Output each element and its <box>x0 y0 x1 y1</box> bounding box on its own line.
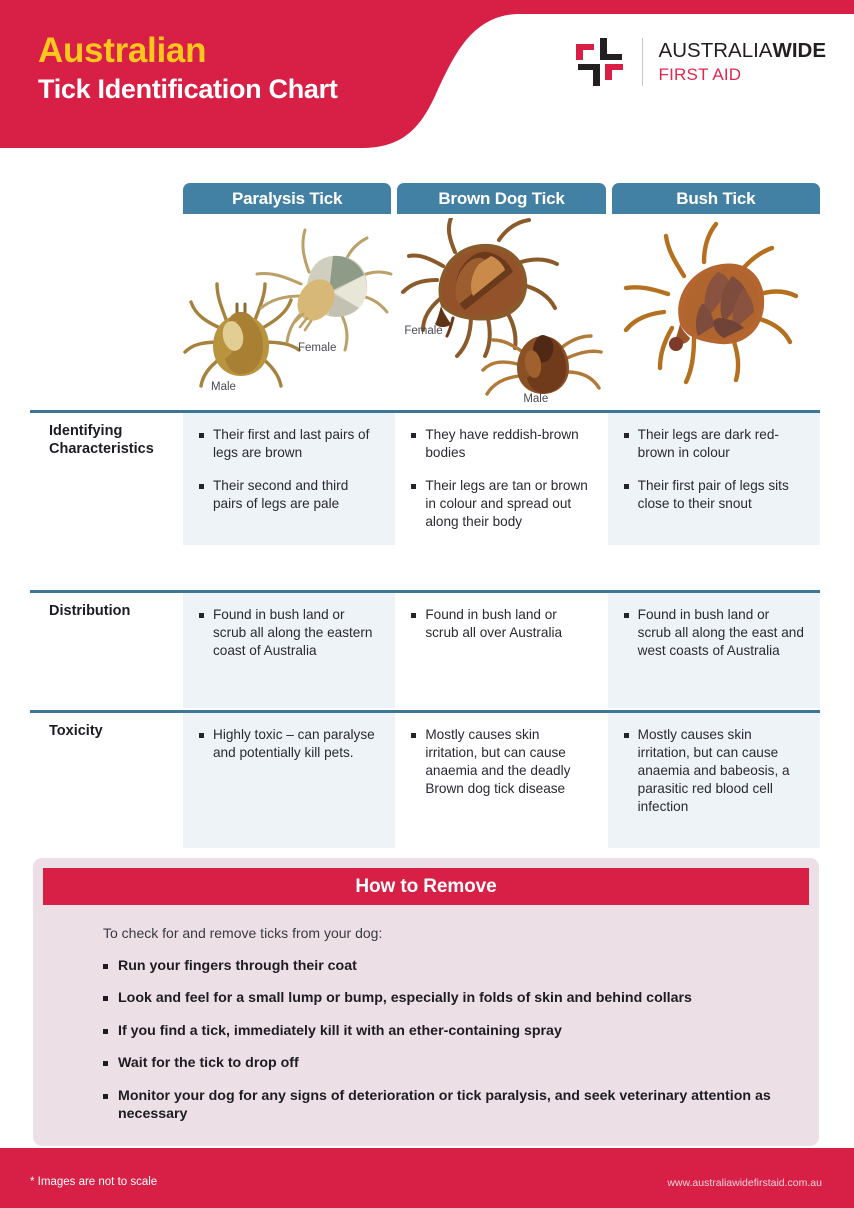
list-item: Found in bush land or scrub all along th… <box>199 606 379 660</box>
bullet-list: Mostly causes skin irritation, but can c… <box>411 726 591 798</box>
brand-name-bold: WIDE <box>772 39 826 62</box>
label-paralysis-female: Female <box>298 342 336 354</box>
cell-bush-distribution: Found in bush land or scrub all along th… <box>608 593 820 708</box>
brand-logo: AUSTRALIAWIDE FIRST AID <box>574 36 826 88</box>
list-item: They have reddish-brown bodies <box>411 426 591 462</box>
how-to-remove-title: How to Remove <box>43 868 809 905</box>
footer-disclaimer: * Images are not to scale <box>30 1176 157 1188</box>
bush-tick-images <box>608 218 820 410</box>
cell-bush-characteristics: Their legs are dark red-brown in colour … <box>608 413 820 545</box>
paralysis-tick-images: Male Female <box>183 218 395 410</box>
cell-brown-dog-toxicity: Mostly causes skin irritation, but can c… <box>395 713 607 848</box>
page-title-primary: Australian <box>38 32 338 71</box>
footer-website-url[interactable]: www.australiawidefirstaid.com.au <box>667 1177 822 1189</box>
bullet-list: Found in bush land or scrub all over Aus… <box>411 606 591 642</box>
how-to-remove-steps: Run your fingers through their coat Look… <box>103 957 819 1124</box>
how-to-remove-intro: To check for and remove ticks from your … <box>103 925 819 941</box>
list-item: Mostly causes skin irritation, but can c… <box>411 726 591 798</box>
page-footer: * Images are not to scale www.australiaw… <box>0 1148 854 1208</box>
brand-divider <box>642 38 643 86</box>
row-heading: Toxicity <box>30 713 183 848</box>
bullet-list: Found in bush land or scrub all along th… <box>624 606 804 660</box>
cell-paralysis-characteristics: Their first and last pairs of legs are b… <box>183 413 395 545</box>
header-title-group: Australian Tick Identification Chart <box>38 32 338 104</box>
tick-illustration-band: Male Female <box>183 218 820 410</box>
bullet-list: Their legs are dark red-brown in colour … <box>624 426 804 513</box>
page-header: Australian Tick Identification Chart <box>0 0 854 152</box>
brand-tagline: FIRST AID <box>659 66 826 83</box>
page-title-secondary: Tick Identification Chart <box>38 75 338 105</box>
label-brown-dog-female: Female <box>404 325 442 337</box>
list-item: Monitor your dog for any signs of deteri… <box>103 1087 779 1124</box>
brown-dog-tick-illustration <box>395 218 607 410</box>
table-row-toxicity: Toxicity Highly toxic – can paralyse and… <box>30 710 820 848</box>
cell-brown-dog-characteristics: They have reddish-brown bodies Their leg… <box>395 413 607 545</box>
tab-bush-tick[interactable]: Bush Tick <box>612 183 820 214</box>
column-header-tabs: Paralysis Tick Brown Dog Tick Bush Tick <box>183 183 820 214</box>
list-item: Wait for the tick to drop off <box>103 1054 779 1072</box>
bullet-list: Found in bush land or scrub all along th… <box>199 606 379 660</box>
brand-name-light: AUSTRALIA <box>659 39 773 62</box>
cell-bush-toxicity: Mostly causes skin irritation, but can c… <box>608 713 820 848</box>
list-item: Their legs are dark red-brown in colour <box>624 426 804 462</box>
how-to-remove-panel: How to Remove To check for and remove ti… <box>33 858 819 1146</box>
list-item: If you find a tick, immediately kill it … <box>103 1022 779 1040</box>
bush-tick-illustration <box>608 218 820 410</box>
bullet-list: Their first and last pairs of legs are b… <box>199 426 379 513</box>
cell-brown-dog-distribution: Found in bush land or scrub all over Aus… <box>395 593 607 708</box>
row-heading: Identifying Characteristics <box>30 413 183 545</box>
row-heading: Distribution <box>30 593 183 708</box>
tab-brown-dog-tick[interactable]: Brown Dog Tick <box>397 183 605 214</box>
list-item: Look and feel for a small lump or bump, … <box>103 989 779 1007</box>
table-row-identifying-characteristics: Identifying Characteristics Their first … <box>30 410 820 545</box>
bullet-list: They have reddish-brown bodies Their leg… <box>411 426 591 531</box>
list-item: Highly toxic – can paralyse and potentia… <box>199 726 379 762</box>
bullet-list: Highly toxic – can paralyse and potentia… <box>199 726 379 762</box>
cell-paralysis-toxicity: Highly toxic – can paralyse and potentia… <box>183 713 395 848</box>
list-item: Run your fingers through their coat <box>103 957 779 975</box>
list-item: Their second and third pairs of legs are… <box>199 477 379 513</box>
list-item: Found in bush land or scrub all along th… <box>624 606 804 660</box>
australia-wide-cross-icon <box>574 36 626 88</box>
bullet-list: Mostly causes skin irritation, but can c… <box>624 726 804 816</box>
list-item: Found in bush land or scrub all over Aus… <box>411 606 591 642</box>
list-item: Their first and last pairs of legs are b… <box>199 426 379 462</box>
label-paralysis-male: Male <box>211 381 236 393</box>
cell-paralysis-distribution: Found in bush land or scrub all along th… <box>183 593 395 708</box>
list-item: Their first pair of legs sits close to t… <box>624 477 804 513</box>
list-item: Their legs are tan or brown in colour an… <box>411 477 591 531</box>
table-row-distribution: Distribution Found in bush land or scrub… <box>30 590 820 708</box>
brand-wordmark: AUSTRALIAWIDE FIRST AID <box>659 41 826 84</box>
tab-paralysis-tick[interactable]: Paralysis Tick <box>183 183 391 214</box>
label-brown-dog-male: Male <box>523 393 548 405</box>
infographic-page: Australian Tick Identification Chart <box>0 0 854 1208</box>
list-item: Mostly causes skin irritation, but can c… <box>624 726 804 816</box>
brand-name: AUSTRALIAWIDE <box>659 41 826 62</box>
brown-dog-tick-images: Female Male <box>395 218 607 410</box>
